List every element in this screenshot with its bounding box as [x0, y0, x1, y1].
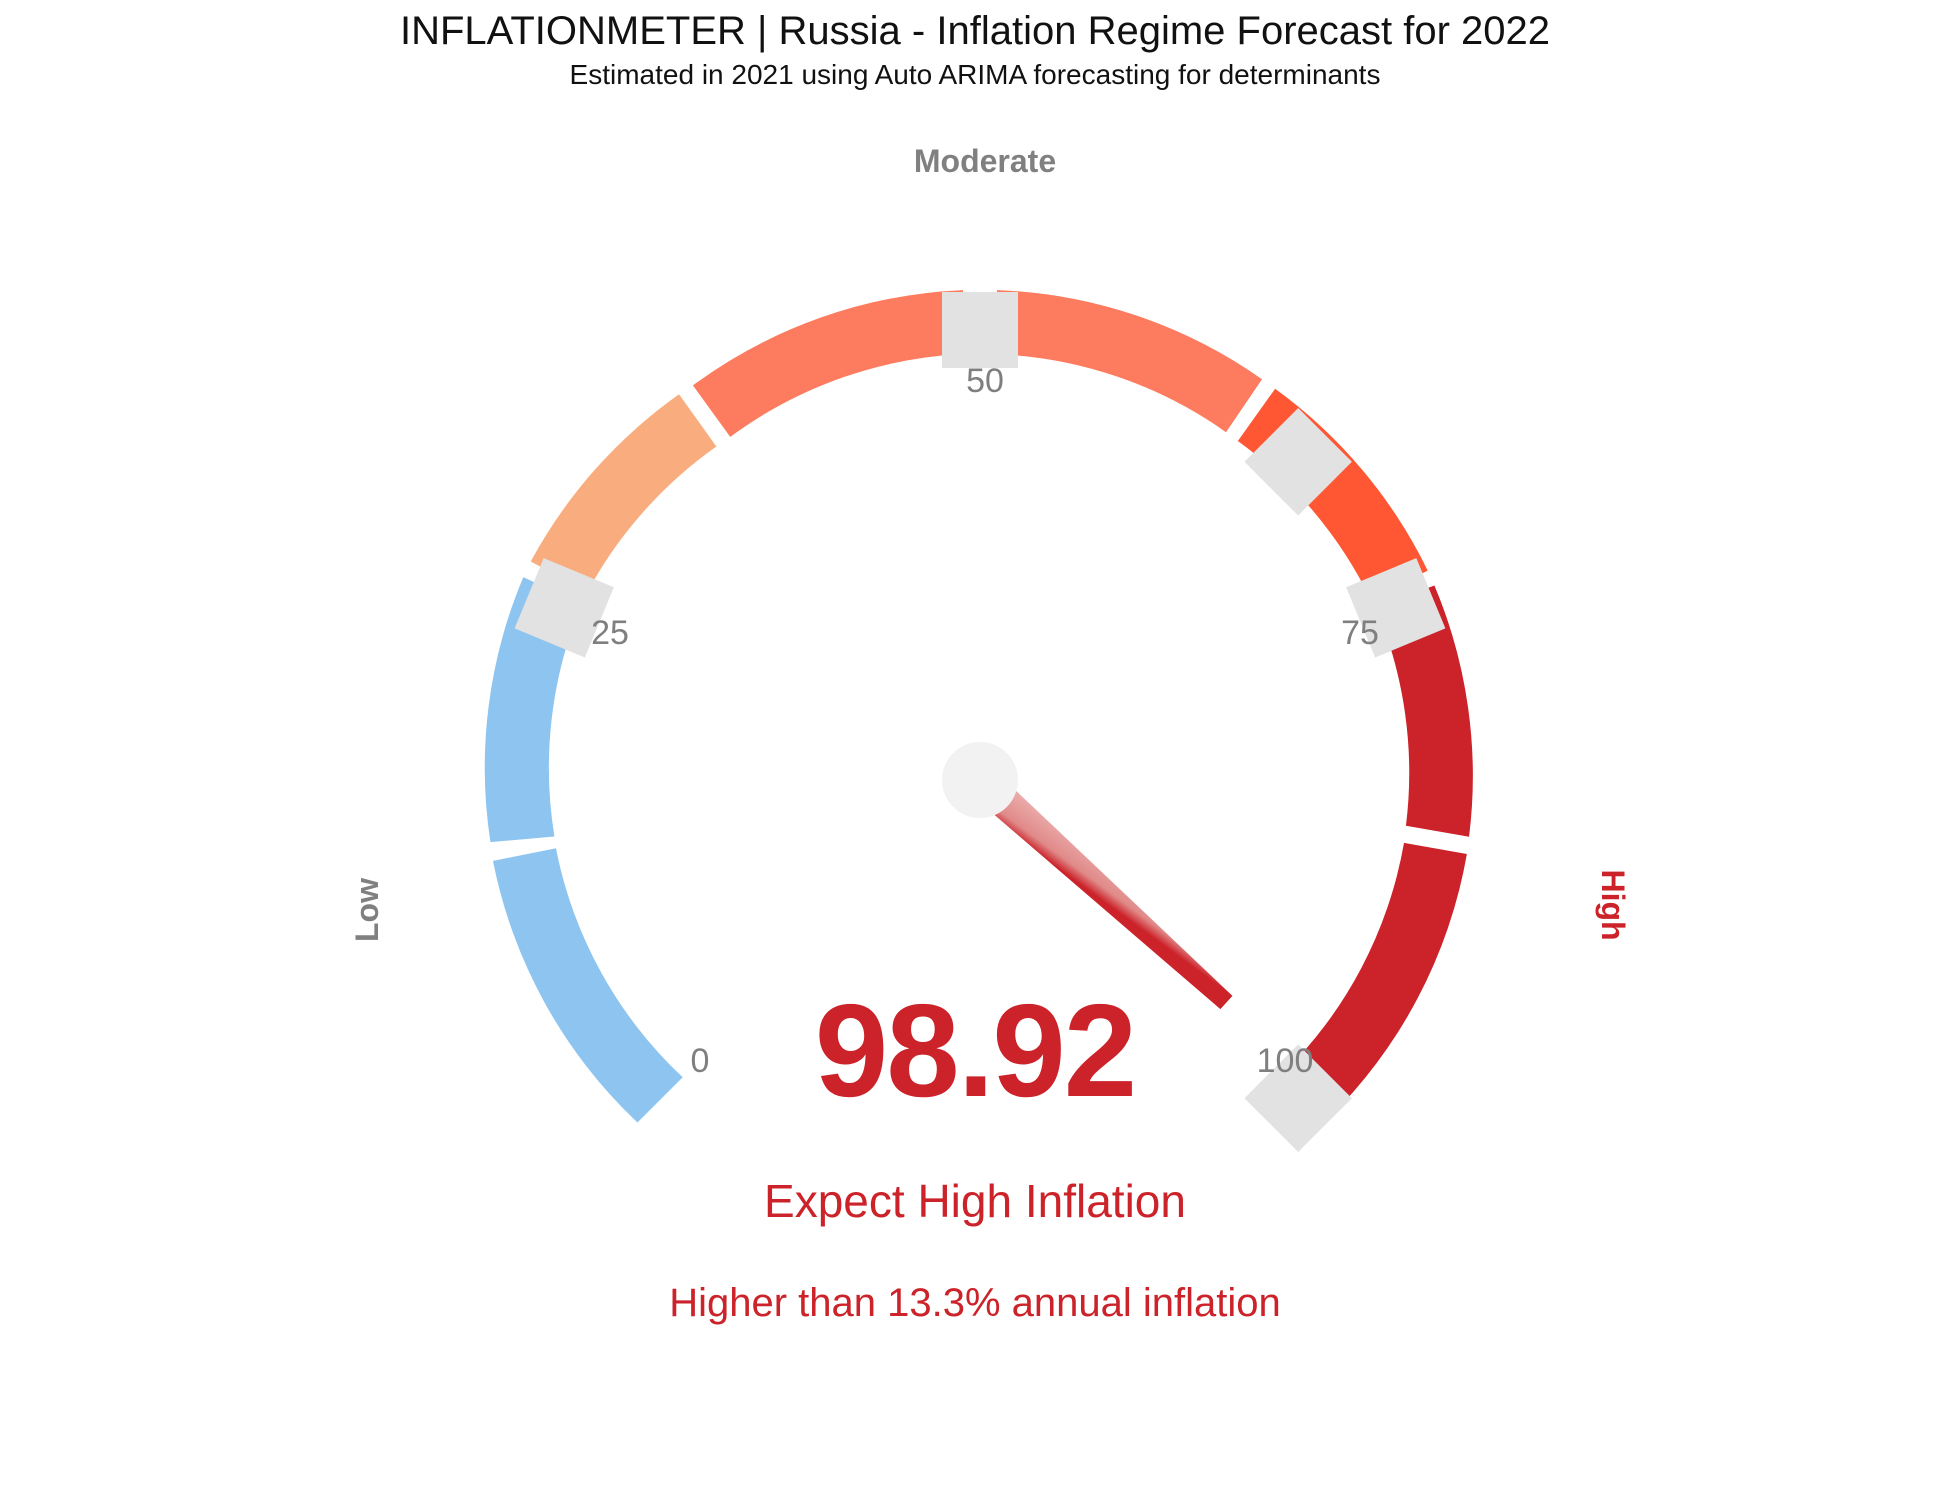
tick-label-25: 25 [591, 614, 629, 652]
tick-label-75: 75 [1341, 614, 1379, 652]
gauge-figure: 0 25 50 75 100 Low Cool Moderate Heat Hi… [0, 0, 1950, 1500]
zone-arc-moderate-b [995, 290, 1262, 432]
zone-label-moderate: Moderate [914, 143, 1056, 179]
zone-label-low: Low [349, 878, 385, 942]
zone-arc-moderate-a [693, 290, 965, 437]
needle-hub [942, 742, 1018, 818]
zone-label-high: High [1595, 869, 1631, 940]
tick-label-50: 50 [966, 362, 1004, 400]
gauge-chart-canvas: INFLATIONMETER | Russia - Inflation Regi… [0, 0, 1950, 1500]
tick-label-100: 100 [1257, 1042, 1314, 1080]
gauge-arc-band [485, 290, 1473, 1122]
threshold-marker-50 [942, 292, 1018, 368]
gauge-needle [942, 742, 1238, 1015]
tick-label-0: 0 [691, 1042, 710, 1080]
zone-arc-cool [531, 394, 717, 592]
zone-arc-low-a [493, 848, 683, 1122]
